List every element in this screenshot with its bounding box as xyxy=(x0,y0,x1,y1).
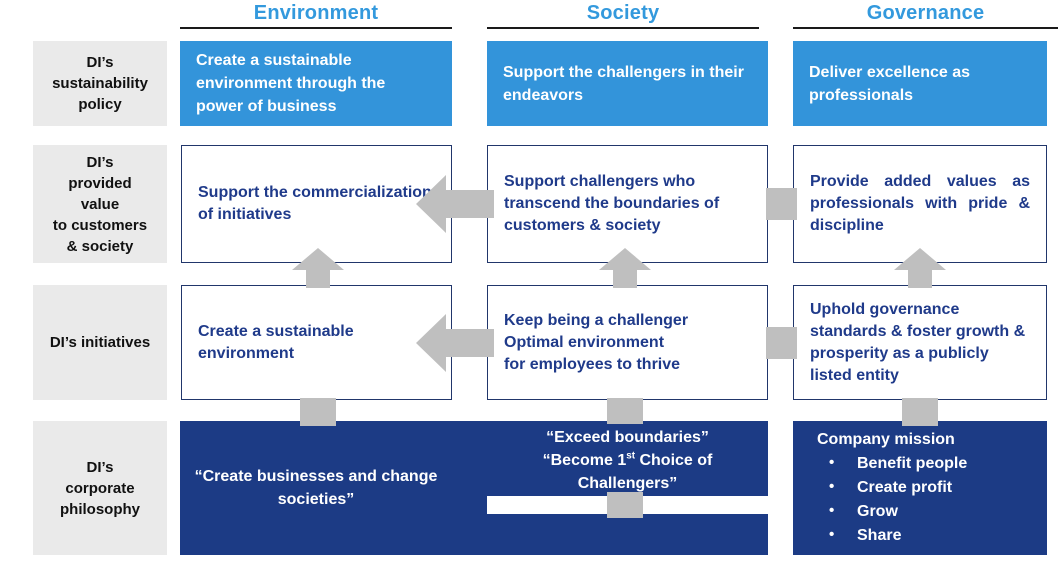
cell-philosophy-society[interactable]: “Exceed boundaries” “Become 1st Choice o… xyxy=(487,424,768,496)
company-mission-title: Company mission xyxy=(815,429,1025,451)
cell-policy-governance[interactable]: Deliver excellence as professionals xyxy=(793,41,1047,126)
cell-initiatives-society-line-3: for employees to thrive xyxy=(504,354,751,376)
connector-governance-to-society-initiatives xyxy=(766,327,797,359)
cell-philosophy-society-line-1: “Exceed boundaries” xyxy=(497,426,758,449)
row-label-corporate-philosophy: DI’s corporate philosophy xyxy=(33,421,167,555)
column-header-environment-label: Environment xyxy=(180,0,452,26)
cell-policy-society[interactable]: Support the challengers in their endeavo… xyxy=(487,41,768,126)
ordinal-suffix: st xyxy=(626,450,635,461)
cell-initiatives-society[interactable]: Keep being a challenger Optimal environm… xyxy=(487,285,768,400)
connector-environment-philosophy-to-initiatives xyxy=(300,398,336,426)
cell-policy-environment[interactable]: Create a sustainable environment through… xyxy=(180,41,452,126)
esg-framework-diagram: Environment Society Governance DI’s sust… xyxy=(0,0,1060,583)
company-mission-list: Benefit people Create profit Grow Share xyxy=(815,452,1025,548)
arrow-up-icon-society-initiatives-to-value xyxy=(599,248,651,288)
list-item: Create profit xyxy=(815,476,1025,500)
cell-initiatives-governance-text: Uphold governance standards & foster gro… xyxy=(794,299,1046,387)
cell-initiatives-society-line-1: Keep being a challenger xyxy=(504,310,751,332)
column-header-governance: Governance xyxy=(793,0,1058,29)
arrow-up-icon-governance-initiatives-to-value xyxy=(894,248,946,288)
cell-philosophy-society-line-2: “Become 1st Choice of xyxy=(497,449,758,472)
list-item: Grow xyxy=(815,500,1025,524)
cell-provided-value-environment[interactable]: Support the commercialization of initiat… xyxy=(181,145,452,263)
row-label-sustainability-policy: DI’s sustainability policy xyxy=(33,41,167,126)
cell-policy-governance-text: Deliver excellence as professionals xyxy=(793,61,1047,107)
cell-provided-value-governance-text: Provide added values as professionals wi… xyxy=(794,171,1046,237)
connector-society-philosophy-to-initiatives xyxy=(607,398,643,426)
column-header-governance-rule xyxy=(793,27,1058,29)
cell-policy-society-text: Support the challengers in their endeavo… xyxy=(487,61,768,107)
arrow-up-icon-environment-initiatives-to-value xyxy=(292,248,344,288)
list-item: Share xyxy=(815,524,1025,548)
arrow-left-icon-society-to-environment-initiatives xyxy=(416,311,494,375)
cell-provided-value-environment-text: Support the commercialization of initiat… xyxy=(182,182,451,226)
cell-provided-value-society-text: Support challengers who transcend the bo… xyxy=(488,171,767,237)
cell-initiatives-environment-text: Create a sustainable environment xyxy=(182,321,451,365)
column-header-society-rule xyxy=(487,27,759,29)
list-item: Benefit people xyxy=(815,452,1025,476)
cell-initiatives-environment[interactable]: Create a sustainable environment xyxy=(181,285,452,400)
column-header-society-label: Society xyxy=(487,0,759,26)
cell-initiatives-governance[interactable]: Uphold governance standards & foster gro… xyxy=(793,285,1047,400)
row-label-initiatives: DI’s initiatives xyxy=(33,285,167,400)
cell-provided-value-governance[interactable]: Provide added values as professionals wi… xyxy=(793,145,1047,263)
cell-initiatives-society-line-2: Optimal environment xyxy=(504,332,751,354)
arrow-left-icon-society-to-environment-value xyxy=(416,172,494,236)
connector-society-philosophy-lower xyxy=(607,492,643,518)
cell-policy-environment-text: Create a sustainable environment through… xyxy=(180,49,452,118)
connector-governance-to-society-value xyxy=(766,188,797,220)
connector-governance-philosophy-to-initiatives xyxy=(902,398,938,426)
cell-provided-value-society[interactable]: Support challengers who transcend the bo… xyxy=(487,145,768,263)
cell-philosophy-environment-text: “Create businesses and change societies” xyxy=(180,465,452,511)
column-header-governance-label: Governance xyxy=(793,0,1058,26)
cell-philosophy-governance[interactable]: Company mission Benefit people Create pr… xyxy=(793,421,1047,555)
column-header-environment: Environment xyxy=(180,0,452,29)
column-header-environment-rule xyxy=(180,27,452,29)
column-header-society: Society xyxy=(487,0,759,29)
row-label-provided-value: DI’s provided value to customers & socie… xyxy=(33,145,167,263)
